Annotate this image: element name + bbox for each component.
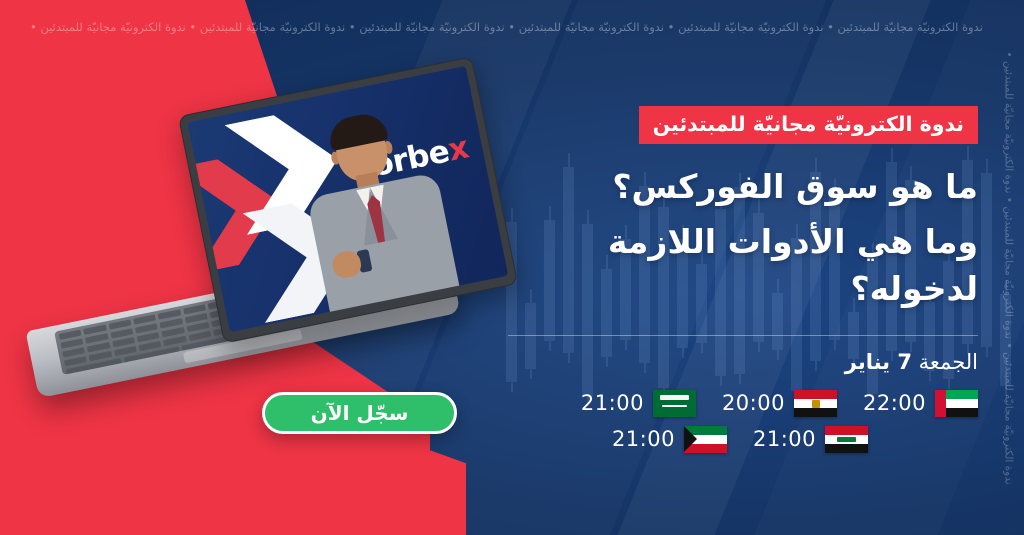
schedule-item-uae: 22:00: [863, 390, 978, 417]
schedule-time: 21:00: [581, 391, 644, 415]
headline-line-2: وما هي الأدوات اللازمة لدخوله؟: [508, 219, 978, 313]
register-now-label: سجّل الآن: [311, 401, 409, 425]
timezone-schedule: 22:00 20:00 21:00: [508, 390, 978, 453]
headline-line-1: ما هو سوق الفوركس؟: [612, 167, 978, 206]
flag-iraq-icon: [825, 426, 868, 453]
schedule-row: 21:00 21:00: [508, 426, 978, 453]
register-now-button[interactable]: سجّل الآن: [262, 392, 457, 434]
marquee-top: ندوة الكترونيّة مجانيّة للمبتدئين • ندوة…: [0, 16, 1024, 38]
flag-egypt-icon: [794, 390, 837, 417]
schedule-time: 22:00: [863, 391, 926, 415]
marquee-right: ندوة الكترونيّة مجانيّة للمبتدئين • ندوة…: [996, 0, 1022, 535]
content-column: ندوة الكترونيّة مجانيّة للمبتدئين ما هو …: [508, 106, 978, 462]
divider: [508, 335, 978, 336]
marquee-right-text: ندوة الكترونيّة مجانيّة للمبتدئين • ندوة…: [1003, 51, 1015, 484]
laptop-screen-bezel: orbex: [178, 56, 518, 343]
schedule-row: 22:00 20:00 21:00: [508, 390, 978, 417]
schedule-item-saudi-arabia: 21:00: [581, 390, 696, 417]
flag-united-arab-emirates-icon: [935, 390, 978, 417]
schedule-time: 20:00: [722, 391, 785, 415]
schedule-item-iraq: 21:00: [753, 426, 868, 453]
schedule-time: 21:00: [753, 427, 816, 451]
schedule-item-kuwait: 21:00: [612, 426, 727, 453]
event-day-month: 7 يناير: [845, 350, 912, 374]
laptop-illustration: orbex: [22, 80, 492, 410]
event-date: الجمعة 7 يناير: [508, 350, 978, 374]
laptop-screen: orbex: [187, 66, 508, 332]
flag-saudi-arabia-icon: [653, 390, 696, 417]
schedule-item-egypt: 20:00: [722, 390, 837, 417]
event-weekday: الجمعة: [919, 350, 978, 374]
promo-banner: ندوة الكترونيّة مجانيّة للمبتدئين • ندوة…: [0, 0, 1024, 535]
webinar-badge: ندوة الكترونيّة مجانيّة للمبتدئين: [639, 106, 978, 144]
schedule-time: 21:00: [612, 427, 675, 451]
headline: ما هو سوق الفوركس؟ وما هي الأدوات اللازم…: [508, 164, 978, 313]
marquee-top-text: ندوة الكترونيّة مجانيّة للمبتدئين • ندوة…: [30, 20, 983, 34]
flag-kuwait-icon: [684, 426, 727, 453]
